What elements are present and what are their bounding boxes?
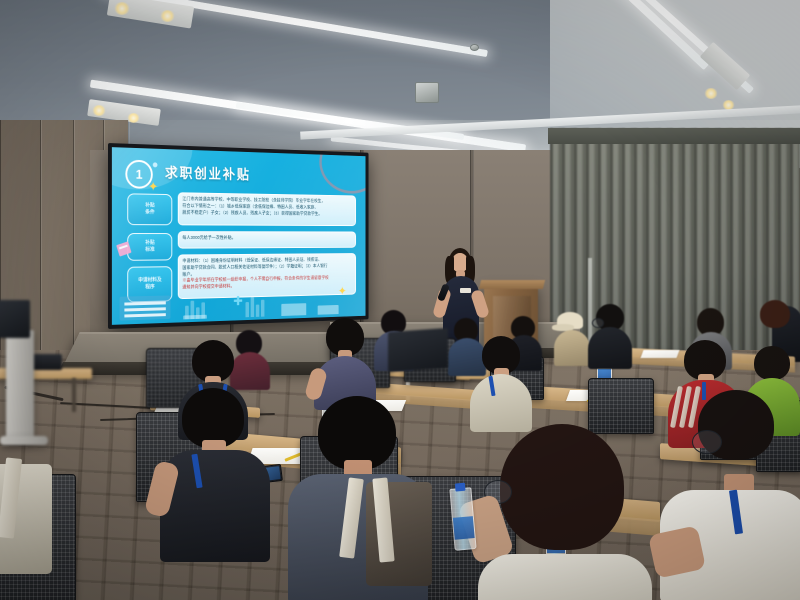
standard-line-1: 每人3000元给予一次性补贴。 xyxy=(182,235,352,242)
ceiling-sprinkler xyxy=(470,44,479,51)
attendee-a5-cap xyxy=(552,312,590,364)
attendee-c3-torso xyxy=(478,554,652,600)
attendee-a6-glasses xyxy=(592,318,604,328)
attendee-a6 xyxy=(588,304,632,366)
attendee-b3 xyxy=(470,336,532,428)
slide-decor-card xyxy=(120,295,171,320)
attendee-b5-hair xyxy=(754,346,790,380)
ceiling-spotlight-5 xyxy=(704,88,718,99)
monitor-on-cart xyxy=(0,300,30,338)
building-8 xyxy=(261,300,264,317)
led-wall-display: 1 ✦ 求职创业补贴 补贴 条件 补贴 标准 申请材料及 程序 江门市内普通高等… xyxy=(108,143,369,329)
attendee-c2-hair xyxy=(318,396,396,470)
slide-label-subsidy-conditions: 补贴 条件 xyxy=(127,193,172,225)
building-5 xyxy=(245,302,248,317)
attendee-c3-hair xyxy=(500,424,624,550)
building-6 xyxy=(251,297,254,317)
slide-box-standard: 每人3000元给予一次性补贴。 xyxy=(178,231,356,248)
attendee-c4-white-shirt xyxy=(660,390,800,600)
presenter-name-tag xyxy=(460,288,471,293)
ceiling-vent xyxy=(415,82,439,103)
equipment-table-leg xyxy=(72,378,76,412)
photo-scene: 1 ✦ 求职创业补贴 补贴 条件 补贴 标准 申请材料及 程序 江门市内普通高等… xyxy=(0,0,800,600)
slide-title: 求职创业补贴 xyxy=(165,163,251,184)
sparkle-icon-3: ✚ xyxy=(233,295,243,308)
presentation-slide: 1 ✦ 求职创业补贴 补贴 条件 补贴 标准 申请材料及 程序 江门市内普通高等… xyxy=(112,147,366,325)
building-block-1 xyxy=(183,315,206,320)
attendee-a5-torso xyxy=(554,330,590,366)
bottle-cap-c3 xyxy=(455,483,466,492)
bottle-label-c3 xyxy=(453,516,475,540)
slide-label-subsidy-standard: 补贴 标准 xyxy=(127,233,172,261)
building-block-2 xyxy=(281,303,306,316)
attendee-c1 xyxy=(160,388,270,558)
attendee-c4-glasses xyxy=(692,430,722,454)
attendee-a6-torso xyxy=(588,327,632,369)
building-7 xyxy=(256,305,259,317)
slide-decor-ring xyxy=(319,147,365,194)
ceiling-spotlight-2 xyxy=(160,10,175,22)
curtain-rail xyxy=(548,128,800,144)
attendee-c2 xyxy=(288,396,428,600)
ceiling-spotlight-3 xyxy=(92,105,106,116)
equipment-cart xyxy=(6,330,34,442)
sparkle-icon-1: ✦ xyxy=(148,180,158,193)
attendee-c5-left-edge xyxy=(0,440,76,600)
slide-box-conditions: 江门市内普通高等学校、中等职业学校、技工院校（含技师学院）毕业学年在校生， 符合… xyxy=(178,192,356,226)
attendee-b1 xyxy=(314,318,376,406)
attendee-c3-glasses xyxy=(470,424,656,600)
conditions-line-3: 脱贫不稳定户）子女；（2）残疾人员、残疾人子女；（3）获得国家助学贷款学生。 xyxy=(182,209,352,217)
slide-decor-dot xyxy=(153,162,158,167)
laptop-screen-back xyxy=(388,328,448,372)
attendee-c1-hair xyxy=(182,388,244,448)
building-block-3 xyxy=(318,305,339,315)
ceiling-spotlight-1 xyxy=(114,2,130,15)
